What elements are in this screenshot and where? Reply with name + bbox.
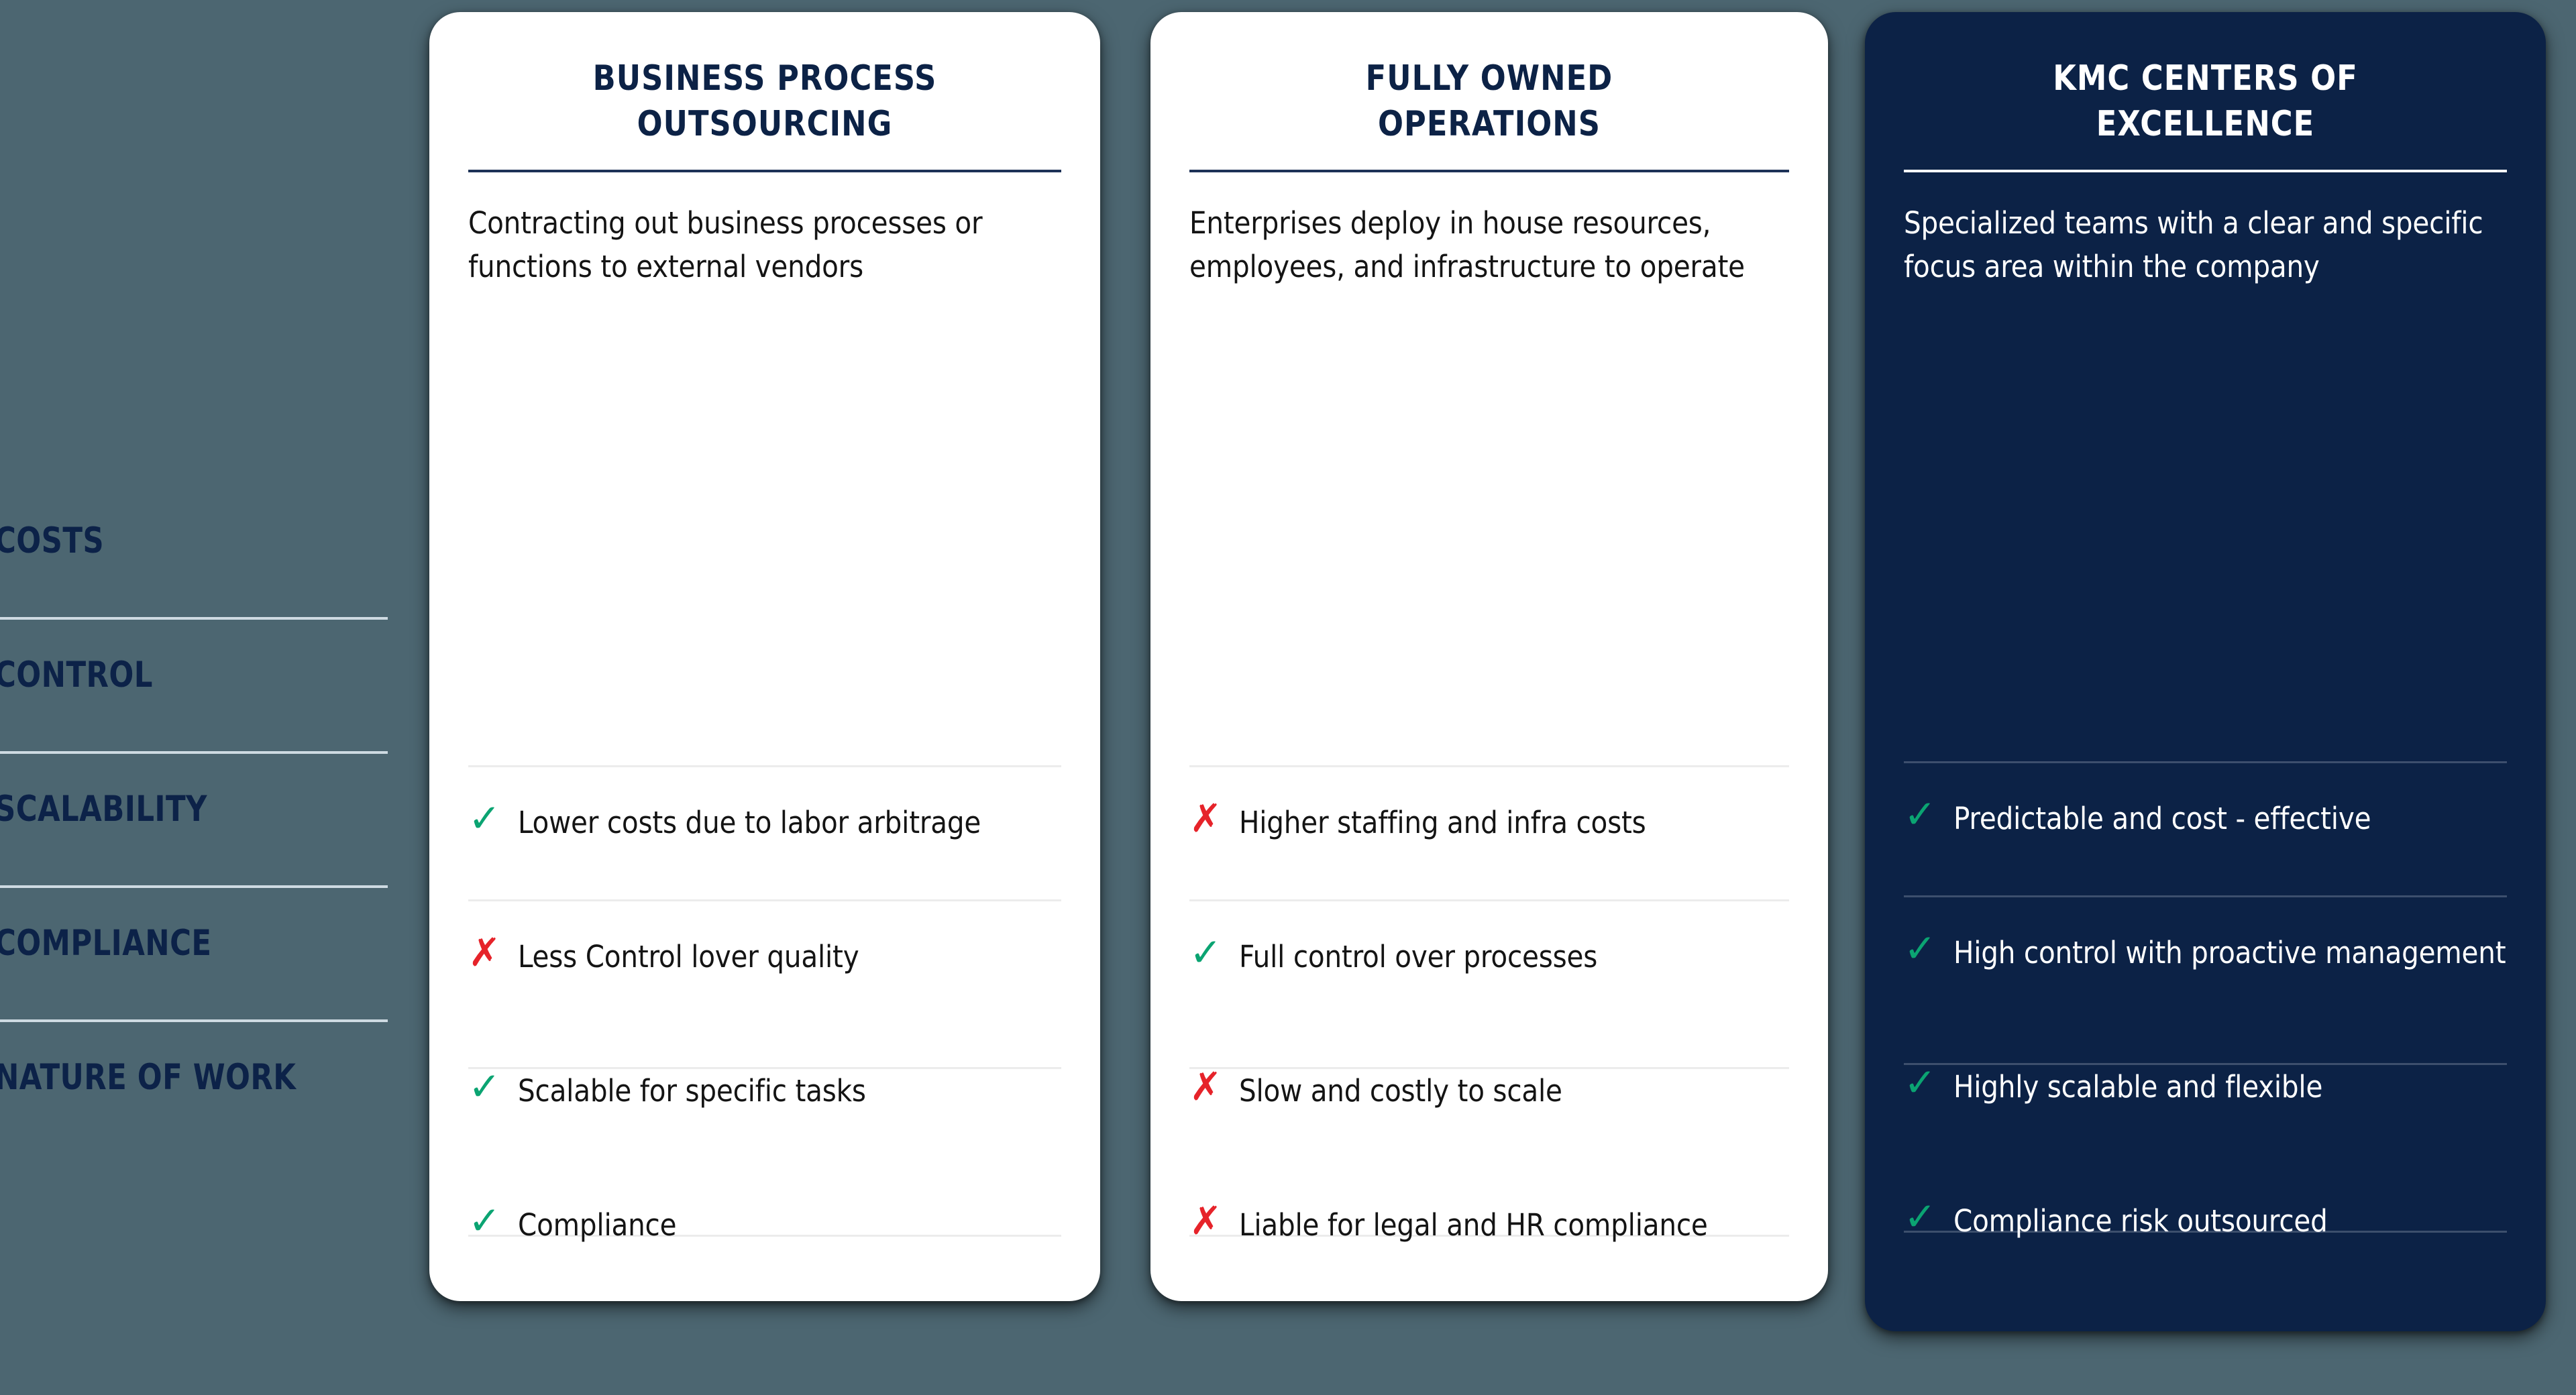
feature-row: ✗Liable for legal and HR compliance [1189,1201,1789,1247]
check-icon: ✓ [1904,795,1939,834]
feature-text: Slow and costly to scale [1239,1067,1562,1113]
row-label-compliance: COMPLIANCE [0,926,212,961]
row-divider [1904,761,2507,763]
row-divider [1189,899,1789,901]
cross-icon: ✗ [468,933,503,972]
feature-text: Compliance risk outsourced [1953,1197,2328,1243]
feature-text: Higher staffing and infra costs [1239,799,1646,845]
feature-text: Full control over processes [1239,933,1597,979]
row-label-control: CONTROL [0,657,153,693]
feature-row: ✓Highly scalable and flexible [1904,1063,2507,1109]
check-icon: ✓ [1904,1197,1939,1237]
check-icon: ✓ [468,1067,503,1107]
feature-row: ✓Full control over processes [1189,933,1789,979]
check-icon: ✓ [1904,929,1939,968]
row-divider [1189,765,1789,767]
row-divider [468,899,1061,901]
rail-divider [0,617,388,620]
row-label-nature-of-work: NATURE OF WORK [0,1060,296,1095]
rail-divider [0,1019,388,1022]
row-label-scalability: SCALABILITY [0,791,207,827]
feature-row: ✗Less Control lover quality [468,933,1061,979]
feature-row: ✓Compliance [468,1201,1061,1247]
card-business-process-outsourcing[interactable]: BUSINESS PROCESS OUTSOURCINGContracting … [429,12,1100,1301]
feature-row: ✓Scalable for specific tasks [468,1067,1061,1113]
check-icon: ✓ [1189,933,1224,972]
card-title: KMC CENTERS OF EXCELLENCE [1946,12,2465,147]
feature-text: Less Control lover quality [518,933,859,979]
row-divider [1904,895,2507,897]
cross-icon: ✗ [1189,1067,1224,1107]
card-fully-owned-operations[interactable]: FULLY OWNED OPERATIONSEnterprises deploy… [1150,12,1828,1301]
feature-text: High control with proactive management [1953,929,2506,975]
feature-text: Lower costs due to labor arbitrage [518,799,981,845]
check-icon: ✓ [1904,1063,1939,1103]
card-title: FULLY OWNED OPERATIONS [1232,12,1748,147]
card-description: Specialized teams with a clear and speci… [1904,172,2507,296]
row-label-rail: COSTSCONTROLSCALABILITYCOMPLIANCENATURE … [0,0,429,1395]
rail-divider [0,885,388,888]
check-icon: ✓ [468,799,503,838]
feature-text: Compliance [518,1201,676,1247]
cross-icon: ✗ [1189,799,1224,838]
card-kmc-centers-of-excellence[interactable]: KMC CENTERS OF EXCELLENCESpecialized tea… [1865,12,2546,1331]
row-divider [468,765,1061,767]
check-icon: ✓ [468,1201,503,1241]
rail-divider [0,751,388,754]
feature-text: Predictable and cost - effective [1953,795,2371,841]
cross-icon: ✗ [1189,1201,1224,1241]
feature-row: ✗Slow and costly to scale [1189,1067,1789,1113]
comparison-board: COSTSCONTROLSCALABILITYCOMPLIANCENATURE … [0,0,2576,1395]
card-description: Contracting out business processes or fu… [468,172,1061,296]
feature-row: ✗Higher staffing and infra costs [1189,799,1789,845]
feature-row: ✓High control with proactive management [1904,929,2507,975]
feature-row: ✓Predictable and cost - effective [1904,795,2507,841]
card-description: Enterprises deploy in house resources, e… [1189,172,1789,296]
feature-row: ✓Compliance risk outsourced [1904,1197,2507,1243]
feature-row: ✓Lower costs due to labor arbitrage [468,799,1061,845]
card-title: BUSINESS PROCESS OUTSOURCING [510,12,1020,147]
feature-text: Liable for legal and HR compliance [1239,1201,1708,1247]
feature-text: Scalable for specific tasks [518,1067,866,1113]
feature-text: Highly scalable and flexible [1953,1063,2322,1109]
row-label-costs: COSTS [0,523,104,559]
